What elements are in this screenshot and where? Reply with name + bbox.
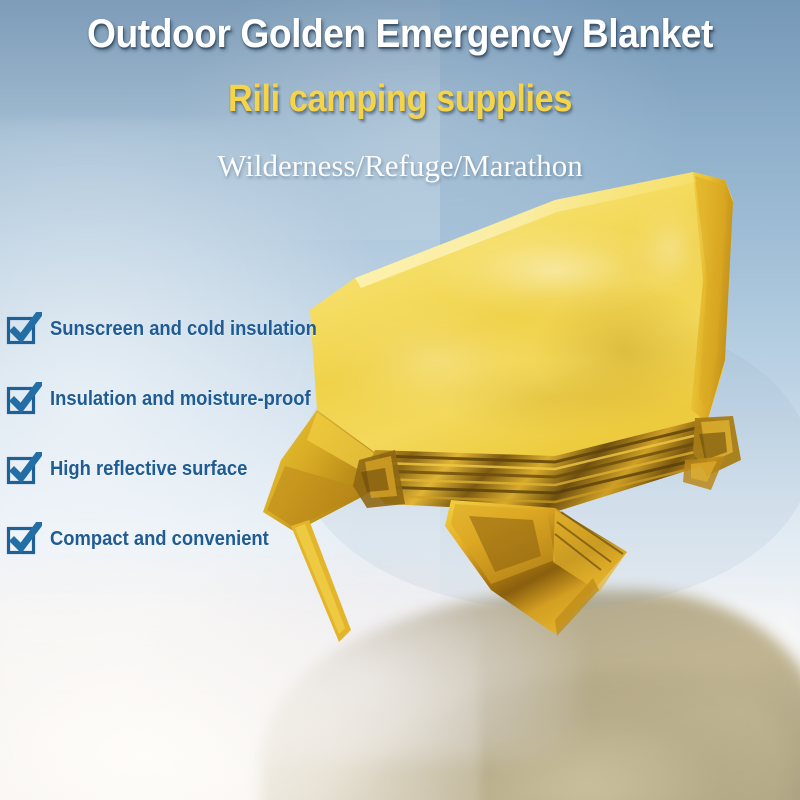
feature-item: Compact and convenient: [6, 520, 340, 558]
product-advertisement-image: Outdoor Golden Emergency Blanket Rili ca…: [0, 0, 800, 800]
headline-container: Outdoor Golden Emergency Blanket: [0, 14, 800, 54]
feature-item: Sunscreen and cold insulation: [6, 310, 340, 348]
feature-label: Compact and convenient: [50, 529, 269, 549]
checkbox-checked-icon: [6, 382, 42, 416]
feature-item: Insulation and moisture-proof: [6, 380, 340, 418]
brand-subtitle: Rili camping supplies: [40, 80, 760, 118]
feature-label: High reflective surface: [50, 459, 247, 479]
checkbox-checked-icon: [6, 522, 42, 556]
checkbox-checked-icon: [6, 312, 42, 346]
feature-label: Sunscreen and cold insulation: [50, 319, 317, 339]
page-title: Outdoor Golden Emergency Blanket: [28, 14, 772, 54]
feature-label: Insulation and moisture-proof: [50, 389, 311, 409]
use-case-tagline: Wilderness/Refuge/Marathon: [0, 150, 800, 181]
checkbox-checked-icon: [6, 452, 42, 486]
feature-item: High reflective surface: [6, 450, 340, 488]
feature-list: Sunscreen and cold insulation Insulation…: [6, 310, 340, 590]
